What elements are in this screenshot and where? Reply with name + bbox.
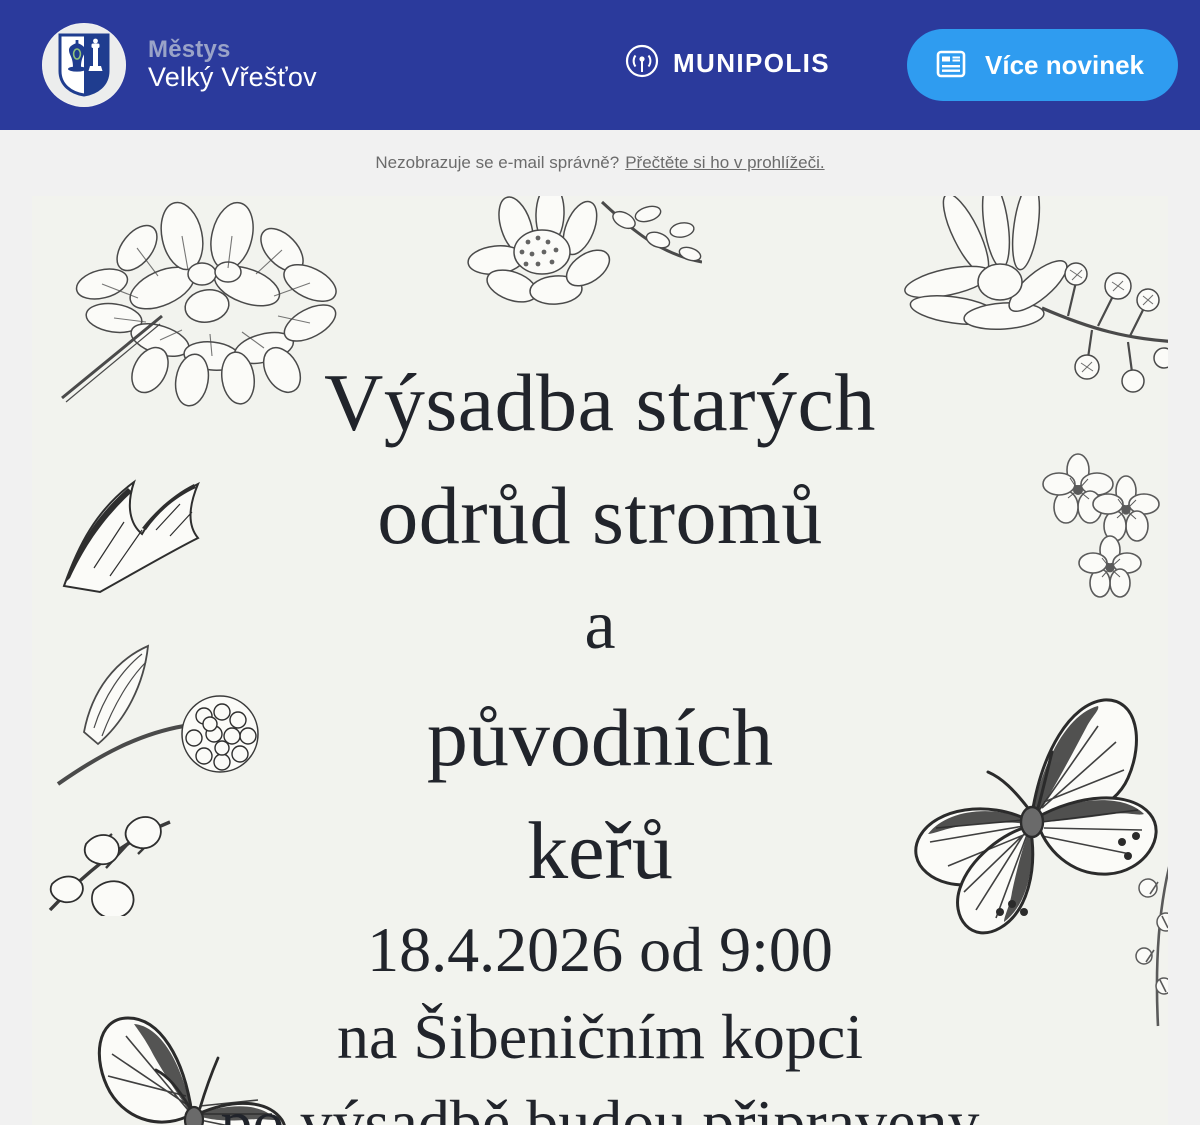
view-in-browser-link[interactable]: Přečtěte si ho v prohlížeči. bbox=[625, 153, 824, 173]
anemone-flower-illustration bbox=[452, 196, 702, 334]
poster-conjunction: a bbox=[32, 572, 1168, 681]
munipolis-logo[interactable]: MUNIPOLIS bbox=[625, 44, 830, 83]
munipolis-label: MUNIPOLIS bbox=[673, 48, 830, 79]
webview-notice: Nezobrazuje se e-mail správně? Přečtěte … bbox=[0, 130, 1200, 196]
broadcast-signal-icon bbox=[625, 44, 659, 83]
more-news-label: Více novinek bbox=[985, 50, 1144, 81]
site-header: Městys Velký Vřešťov MUNIPOLIS bbox=[0, 0, 1200, 130]
brand-name: Velký Vřešťov bbox=[148, 63, 317, 92]
poster-container: Výsadba starých odrůd stromů a původních… bbox=[0, 196, 1200, 1125]
brand-text: Městys Velký Vřešťov bbox=[148, 37, 317, 92]
poster-truncated-line: po výsadbě budou připraveny bbox=[32, 1080, 1168, 1125]
brand-block[interactable]: Městys Velký Vřešťov bbox=[42, 23, 317, 107]
poster-place: na Šibeničním kopci bbox=[32, 994, 1168, 1080]
poster-date-time: 18.4.2026 od 9:00 bbox=[32, 907, 1168, 993]
poster-title-line-2: odrůd stromů bbox=[32, 459, 1168, 572]
event-poster-image[interactable]: Výsadba starých odrůd stromů a původních… bbox=[32, 196, 1168, 1125]
poster-title-line-1: Výsadba starých bbox=[32, 346, 1168, 459]
poster-subject-line-1: původních bbox=[32, 681, 1168, 794]
brand-kicker: Městys bbox=[148, 37, 317, 63]
more-news-button[interactable]: Více novinek bbox=[907, 29, 1178, 101]
webview-notice-text: Nezobrazuje se e-mail správně? bbox=[375, 153, 619, 173]
newspaper-icon bbox=[935, 48, 967, 83]
town-coat-of-arms-icon bbox=[42, 23, 126, 107]
poster-text-block: Výsadba starých odrůd stromů a původních… bbox=[32, 346, 1168, 1125]
poster-subject-line-2: keřů bbox=[32, 794, 1168, 907]
